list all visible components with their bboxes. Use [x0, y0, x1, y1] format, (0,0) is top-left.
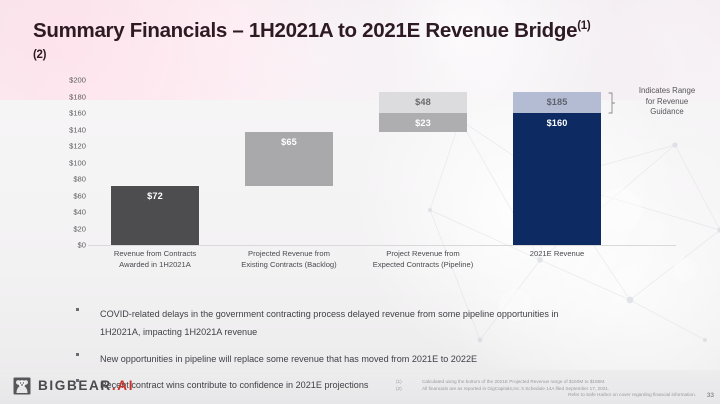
footnote-text: Calculated using the bottom of the 2021E… [422, 379, 605, 386]
category-label-line: Revenue from Contracts [88, 249, 222, 260]
logo-text-main: BIGBEAR [38, 378, 112, 393]
bar-value-label: $65 [245, 137, 333, 147]
category-label-line: Projected Revenue from [222, 249, 356, 260]
category-label-line: Project Revenue from [356, 249, 490, 260]
y-axis-tick-label: $140 [69, 125, 86, 134]
y-axis-tick-label: $160 [69, 109, 86, 118]
y-axis-tick-label: $80 [73, 175, 86, 184]
range-annotation-line: Indicates Range [621, 86, 713, 97]
category-label-line: Existing Contracts (Backlog) [222, 260, 356, 271]
category-label: Revenue from ContractsAwarded in 1H2021A [88, 249, 222, 270]
footnote-text: All financials are as reported in GigCap… [422, 386, 609, 393]
y-axis-tick-label: $60 [73, 191, 86, 200]
footnote-number: (1) [396, 379, 422, 386]
range-annotation: Indicates Rangefor RevenueGuidance [621, 86, 713, 118]
y-axis-labels: $200$180$160$140$120$100$80$60$40$20$0 [36, 80, 86, 245]
bar-value-label: $23 [379, 118, 467, 128]
bullet-text: COVID-related delays in the government c… [100, 309, 558, 337]
category-label: Projected Revenue fromExisting Contracts… [222, 249, 356, 270]
bullet-marker-icon [76, 353, 79, 356]
bar-value-label: $185 [513, 97, 601, 107]
revenue-bridge-chart: $200$180$160$140$120$100$80$60$40$20$0 $… [36, 80, 676, 270]
slide-canvas: Summary Financials – 1H2021A to 2021E Re… [0, 0, 720, 404]
range-bracket-icon [608, 92, 616, 114]
chart-bar-segment: $185 [513, 92, 601, 113]
chart-plot-area: $72$65$48$23$185$160 [88, 80, 624, 245]
x-axis-category-labels: Revenue from ContractsAwarded in 1H2021A… [88, 249, 624, 273]
chart-bar-segment: $72 [111, 186, 199, 245]
bar-value-label: $72 [111, 191, 199, 201]
y-axis-tick-label: $200 [69, 76, 86, 85]
y-axis-tick-label: $0 [78, 241, 86, 250]
bullet-marker-icon [76, 308, 79, 311]
category-label: Project Revenue fromExpected Contracts (… [356, 249, 490, 270]
chart-bar-segment: $160 [513, 113, 601, 245]
footnote-text: Refer to Safe Harbor on cover regarding … [568, 392, 696, 399]
bigbear-ai-logo: BIGBEAR.AI [12, 375, 134, 397]
bar-value-label: $160 [513, 118, 601, 128]
footnote-row: (2)All financials are as reported in Gig… [396, 386, 696, 393]
footnote-row: Refer to Safe Harbor on cover regarding … [396, 392, 696, 399]
y-axis-tick-label: $180 [69, 92, 86, 101]
y-axis-tick-label: $40 [73, 208, 86, 217]
y-axis-tick-label: $20 [73, 224, 86, 233]
category-label-line: Expected Contracts (Pipeline) [356, 260, 490, 271]
range-annotation-line: Guidance [621, 107, 713, 118]
footnote-number: (2) [396, 386, 422, 393]
bullet-text: New opportunities in pipeline will repla… [100, 354, 477, 364]
footnote-row: (1)Calculated using the bottom of the 20… [396, 379, 696, 386]
chart-bar-segment: $48 [379, 92, 467, 113]
y-axis-tick-label: $120 [69, 142, 86, 151]
bullet-item: New opportunities in pipeline will repla… [74, 349, 594, 367]
category-label-line: 2021E Revenue [490, 249, 624, 260]
footnotes: (1)Calculated using the bottom of the 20… [396, 379, 696, 399]
category-label: 2021E Revenue [490, 249, 624, 260]
range-annotation-line: for Revenue [621, 97, 713, 108]
category-label-line: Awarded in 1H2021A [88, 260, 222, 271]
chart-bar-segment: $65 [245, 132, 333, 186]
page-title-text: Summary Financials – 1H2021A to 2021E Re… [33, 19, 577, 42]
chart-bar-segment: $23 [379, 113, 467, 132]
bear-logo-icon [12, 376, 32, 396]
bullet-item: COVID-related delays in the government c… [74, 304, 594, 340]
logo-text-ai: AI [117, 378, 134, 393]
page-number: 33 [707, 392, 714, 399]
y-axis-tick-label: $100 [69, 158, 86, 167]
bullet-text: Recent contract wins contribute to confi… [100, 380, 368, 390]
page-title: Summary Financials – 1H2021A to 2021E Re… [33, 14, 593, 72]
bar-value-label: $48 [379, 97, 467, 107]
x-axis-baseline [88, 245, 676, 246]
logo-wordmark: BIGBEAR.AI [38, 379, 134, 393]
